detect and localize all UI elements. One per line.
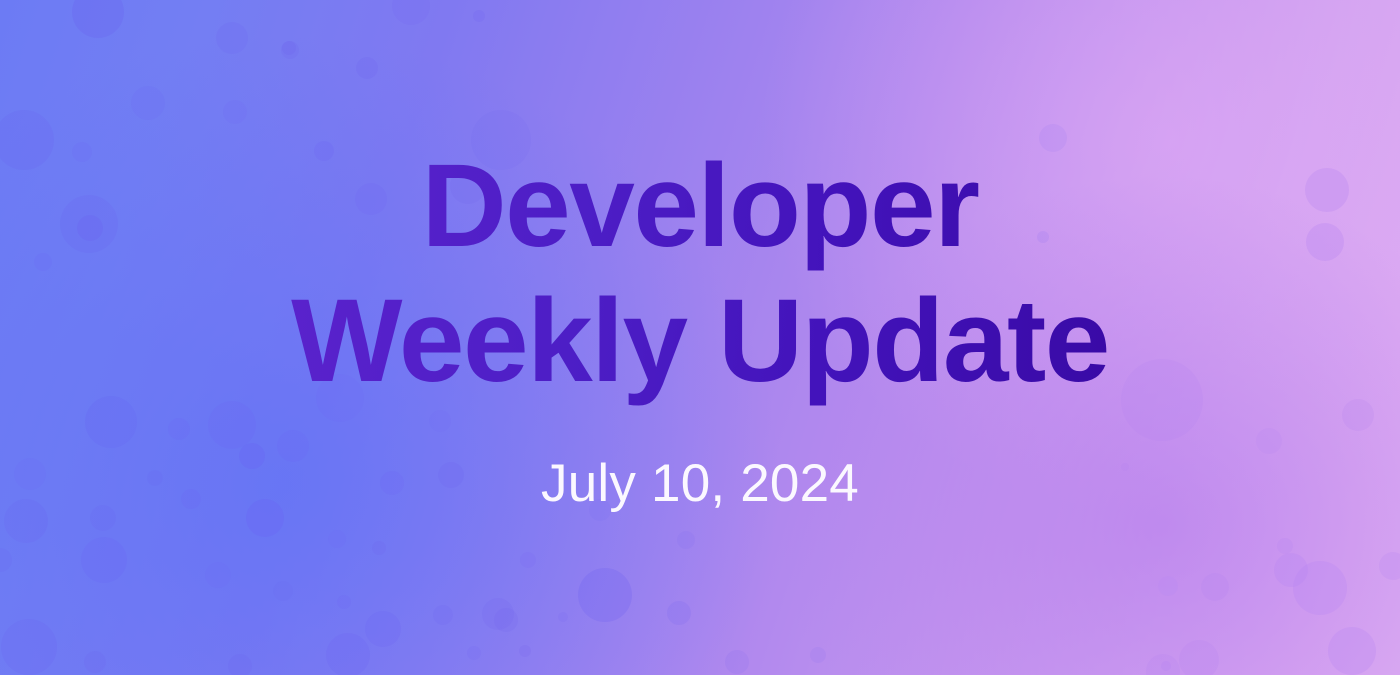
weekly-update-banner: Developer Weekly Update July 10, 2024 [0, 0, 1400, 675]
banner-content: Developer Weekly Update July 10, 2024 [0, 0, 1400, 675]
title-line-1: Developer [291, 139, 1109, 274]
banner-date-subtitle: July 10, 2024 [541, 453, 859, 514]
title-line-2: Weekly Update [291, 274, 1109, 409]
page-title: Developer Weekly Update [291, 139, 1109, 408]
